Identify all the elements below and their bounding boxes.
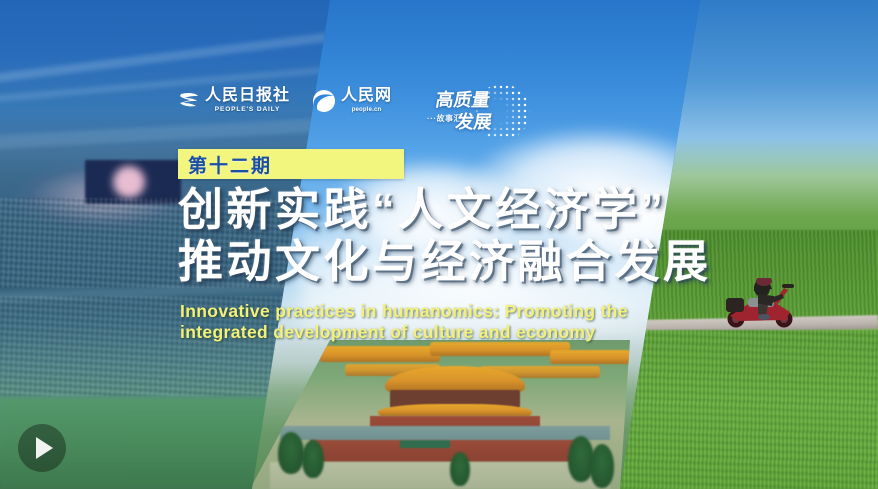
english-subtitle: Innovative practices in humanomics: Prom… <box>180 301 720 343</box>
subtitle-line-2: integrated development of culture and ec… <box>180 322 720 343</box>
people-cn-logo: 人民网 people.cn <box>312 88 392 113</box>
tree <box>450 452 470 486</box>
tree <box>590 444 614 488</box>
title-line-1: 创新实践“人文经济学” <box>178 184 718 236</box>
page-title: 创新实践“人文经济学” 推动文化与经济融合发展 <box>178 184 718 288</box>
peoples-daily-logo: 人民日报社 PEOPLE'S DAILY <box>178 88 290 114</box>
main-hall-lower-roof <box>378 404 532 416</box>
gate-plaque <box>400 440 450 448</box>
badge-line-2: 发展 <box>454 108 494 134</box>
logo-cn-text: 人民网 <box>341 88 392 104</box>
stadium-roof-beam <box>0 29 359 84</box>
scooter-rider-icon <box>718 278 808 328</box>
people-daily-logo-icon <box>178 90 200 114</box>
subtitle-line-1: Innovative practices in humanomics: Prom… <box>180 301 720 322</box>
people-cn-wordmark: 人民网 people.cn <box>341 88 392 113</box>
tree <box>278 432 304 474</box>
palace-roof <box>430 342 570 356</box>
campaign-badge: 高质量 ···故事汇 发展 <box>428 82 524 140</box>
play-button[interactable] <box>18 424 66 472</box>
peoples-daily-wordmark: 人民日报社 PEOPLE'S DAILY <box>205 88 290 114</box>
play-icon <box>36 437 53 459</box>
people-cn-logo-icon <box>312 89 336 113</box>
forbidden-city-scene <box>250 340 630 489</box>
issue-banner: 第十二期 <box>178 149 404 179</box>
logo-cn-text: 人民日报社 <box>205 88 290 104</box>
tree <box>302 440 324 478</box>
issue-label: 第十二期 <box>188 151 272 178</box>
publisher-logos: 人民日报社 PEOPLE'S DAILY 人民网 people.cn <box>178 88 392 114</box>
video-poster-stage[interactable]: 人民日报社 PEOPLE'S DAILY 人民网 people.cn 高质量 ·… <box>0 0 878 489</box>
palace-roof <box>320 346 440 362</box>
title-line-2: 推动文化与经济融合发展 <box>178 236 718 288</box>
palace-roof <box>550 350 630 364</box>
logo-en-text: people.cn <box>352 107 382 113</box>
moat-water <box>280 426 610 440</box>
stadium-roof-beam <box>0 117 350 150</box>
logo-en-text: PEOPLE'S DAILY <box>215 107 281 114</box>
